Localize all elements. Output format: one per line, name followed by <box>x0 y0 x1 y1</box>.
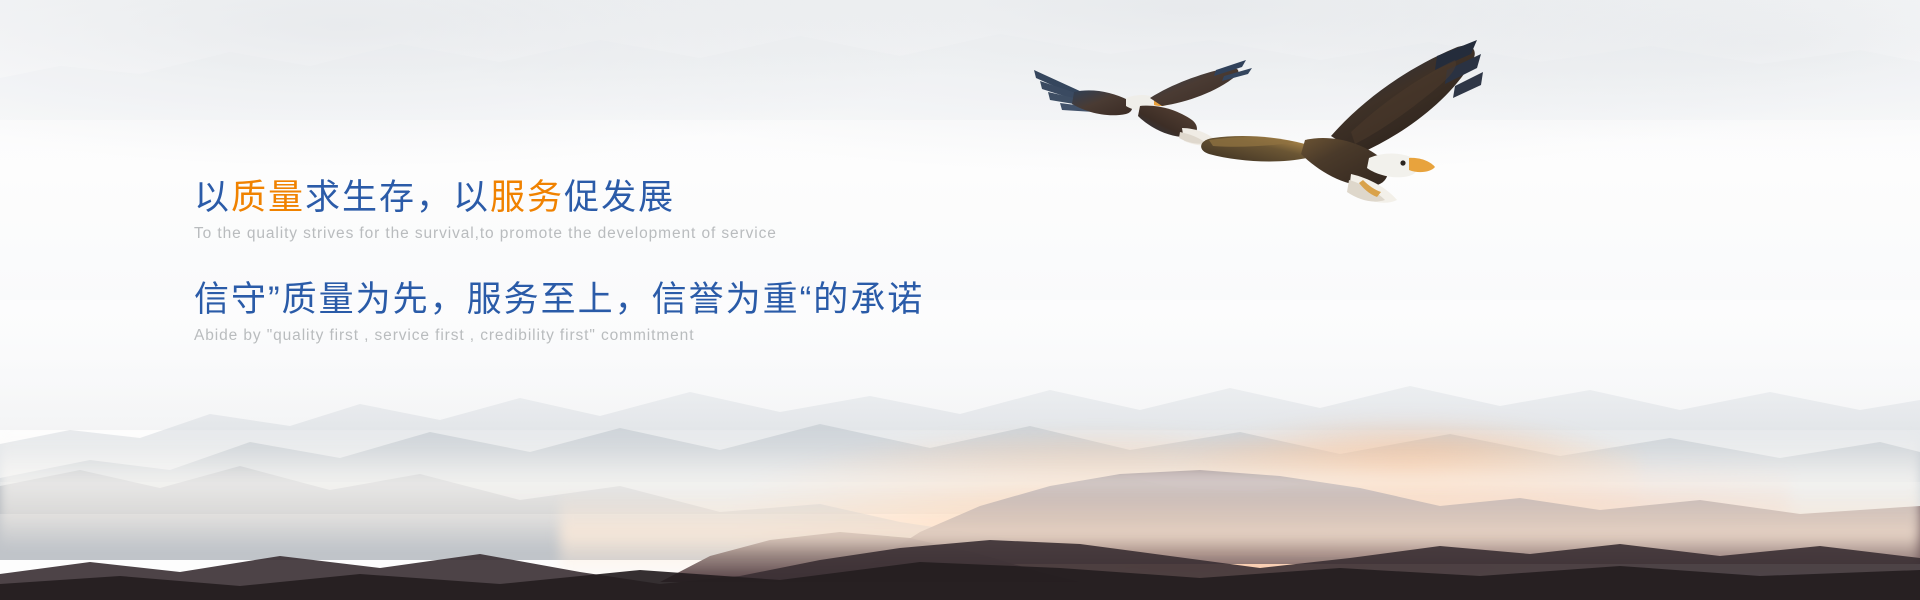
headline-part: 促发展 <box>564 178 675 217</box>
headline-accent-service: 服务 <box>490 178 564 217</box>
slogan-block: 以质量求生存，以服务促发展 To the quality strives for… <box>194 176 1094 348</box>
subline-primary: To the quality strives for the survival,… <box>194 222 1094 246</box>
headline-accent-quality: 质量 <box>231 178 305 217</box>
headline-secondary: 信守”质量为先，服务至上，信誉为重“的承诺 <box>194 278 1094 322</box>
eagle-icon <box>1155 40 1485 240</box>
mountain-layer-foreground-dark <box>0 544 1920 600</box>
headline-part: 以 <box>194 178 231 217</box>
subline-secondary: Abide by "quality first , service first … <box>194 324 1094 348</box>
hero-banner: 以质量求生存，以服务促发展 To the quality strives for… <box>0 0 1920 600</box>
headline-part: 求生存，以 <box>305 178 490 217</box>
headline-primary: 以质量求生存，以服务促发展 <box>194 176 1094 220</box>
distant-ridge-silhouette <box>0 0 1920 120</box>
slogan-block-secondary: 信守”质量为先，服务至上，信誉为重“的承诺 Abide by "quality … <box>194 278 1094 348</box>
